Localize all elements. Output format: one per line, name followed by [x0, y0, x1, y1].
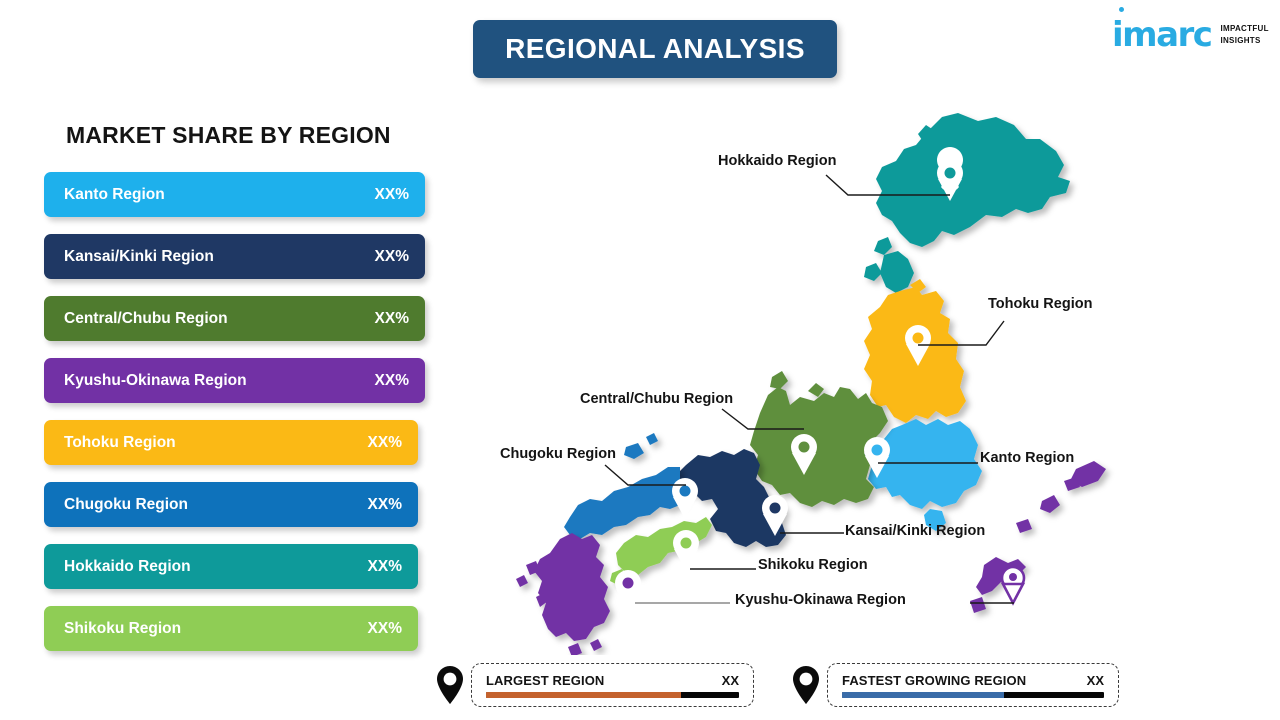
region-share-bar-label: Kanto Region	[64, 186, 165, 204]
map-pin-kyushu	[615, 570, 641, 611]
map-pin-okinawa	[1002, 567, 1024, 603]
logo-tagline-line2: INSIGHTS	[1220, 35, 1268, 47]
map-pin-shikoku	[673, 530, 699, 571]
region-share-bar-value: XX%	[368, 620, 402, 638]
map-region-label: Kansai/Kinki Region	[845, 523, 985, 539]
region-share-bar-value: XX%	[368, 434, 402, 452]
fastest-growing-region-value: XX	[1087, 673, 1104, 688]
region-share-list: Kanto RegionXX%Kansai/Kinki RegionXX%Cen…	[44, 172, 434, 668]
region-share-bar-value: XX%	[368, 496, 402, 514]
region-share-bar[interactable]: Tohoku RegionXX%	[44, 420, 418, 465]
map-pin-chugoku	[672, 478, 698, 519]
fastest-growing-region-row: FASTEST GROWING REGION XX	[842, 673, 1104, 688]
largest-region-pill: LARGEST REGION XX	[471, 663, 754, 707]
map-region-label: Central/Chubu Region	[580, 391, 733, 407]
map-region-label: Tohoku Region	[988, 296, 1092, 312]
largest-region-stat: LARGEST REGION XX	[437, 661, 754, 709]
region-share-bar-value: XX%	[368, 558, 402, 576]
map-region-label: Shikoku Region	[758, 557, 868, 573]
largest-region-track	[486, 692, 739, 698]
largest-region-value: XX	[722, 673, 739, 688]
region-share-bar-label: Central/Chubu Region	[64, 310, 228, 328]
map-region-label: Chugoku Region	[500, 446, 616, 462]
page-title-banner: REGIONAL ANALYSIS	[473, 20, 837, 78]
logo-tagline-line1: IMPACTFUL	[1220, 23, 1268, 35]
region-share-bar[interactable]: Kansai/Kinki RegionXX%	[44, 234, 425, 279]
region-share-bar[interactable]: Central/Chubu RegionXX%	[44, 296, 425, 341]
region-share-bar[interactable]: Shikoku RegionXX%	[44, 606, 418, 651]
map-pin-icon	[793, 666, 819, 704]
logo-dot-icon	[1119, 7, 1124, 12]
region-share-bar[interactable]: Kanto RegionXX%	[44, 172, 425, 217]
logo-tagline: IMPACTFUL INSIGHTS	[1220, 23, 1268, 46]
map-region-hokkaido	[864, 113, 1070, 293]
region-share-bar-label: Hokkaido Region	[64, 558, 191, 576]
largest-region-fill	[486, 692, 681, 698]
region-share-bar-label: Shikoku Region	[64, 620, 181, 638]
map-region-label: Kyushu-Okinawa Region	[735, 592, 906, 608]
largest-region-row: LARGEST REGION XX	[486, 673, 739, 688]
region-share-bar-label: Chugoku Region	[64, 496, 188, 514]
market-share-heading: MARKET SHARE BY REGION	[66, 122, 391, 149]
map-pin-icon	[437, 666, 463, 704]
fastest-growing-region-stat: FASTEST GROWING REGION XX	[793, 661, 1119, 709]
region-share-bar-label: Kyushu-Okinawa Region	[64, 372, 247, 390]
region-share-bar-value: XX%	[375, 186, 409, 204]
imarc-logo: imarc IMPACTFUL INSIGHTS	[1112, 14, 1264, 56]
largest-region-title: LARGEST REGION	[486, 673, 604, 688]
region-share-bar[interactable]: Kyushu-Okinawa RegionXX%	[44, 358, 425, 403]
fastest-growing-region-track	[842, 692, 1104, 698]
fastest-growing-region-fill	[842, 692, 1004, 698]
region-share-bar-label: Kansai/Kinki Region	[64, 248, 214, 266]
map-region-label: Hokkaido Region	[718, 153, 836, 169]
fastest-growing-region-title: FASTEST GROWING REGION	[842, 673, 1026, 688]
page-title: REGIONAL ANALYSIS	[505, 33, 805, 65]
map-region-label: Kanto Region	[980, 450, 1074, 466]
region-share-bar-value: XX%	[375, 310, 409, 328]
region-share-bar[interactable]: Chugoku RegionXX%	[44, 482, 418, 527]
fastest-growing-region-pill: FASTEST GROWING REGION XX	[827, 663, 1119, 707]
region-share-bar-value: XX%	[375, 372, 409, 390]
region-share-bar[interactable]: Hokkaido RegionXX%	[44, 544, 418, 589]
imarc-wordmark: imarc	[1112, 18, 1211, 52]
map-region-chubu	[750, 371, 888, 507]
region-share-bar-label: Tohoku Region	[64, 434, 176, 452]
map-region-kanto	[864, 419, 982, 531]
region-share-bar-value: XX%	[375, 248, 409, 266]
